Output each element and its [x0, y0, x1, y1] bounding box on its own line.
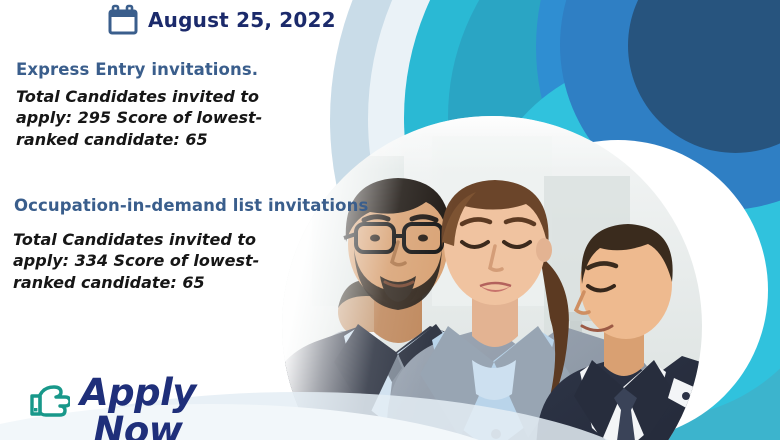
date-row: August 25, 2022 — [108, 4, 336, 36]
poster-content: August 25, 2022 Express Entry invitation… — [0, 0, 780, 440]
date-text: August 25, 2022 — [148, 8, 336, 32]
apply-line-1: Apply — [80, 374, 196, 412]
section-heading-express-entry: Express Entry invitations. — [16, 60, 264, 79]
section-express-entry: Express Entry invitations. Total Candida… — [16, 60, 264, 150]
apply-line-2: Now — [80, 412, 196, 440]
poster-canvas: August 25, 2022 Express Entry invitation… — [0, 0, 780, 440]
apply-now-button[interactable]: Apply Now — [26, 374, 196, 440]
section-heading-occupation-in-demand: Occupation-in-demand list invitations — [14, 196, 368, 215]
section-body-express-entry: Total Candidates invited to apply: 295 S… — [16, 86, 264, 150]
calendar-icon — [108, 4, 138, 36]
section-occupation-in-demand: Occupation-in-demand list invitations To… — [13, 196, 368, 293]
apply-now-label: Apply Now — [80, 374, 196, 440]
section-body-occupation-in-demand: Total Candidates invited to apply: 334 S… — [13, 229, 283, 293]
pointing-hand-icon — [26, 374, 70, 420]
